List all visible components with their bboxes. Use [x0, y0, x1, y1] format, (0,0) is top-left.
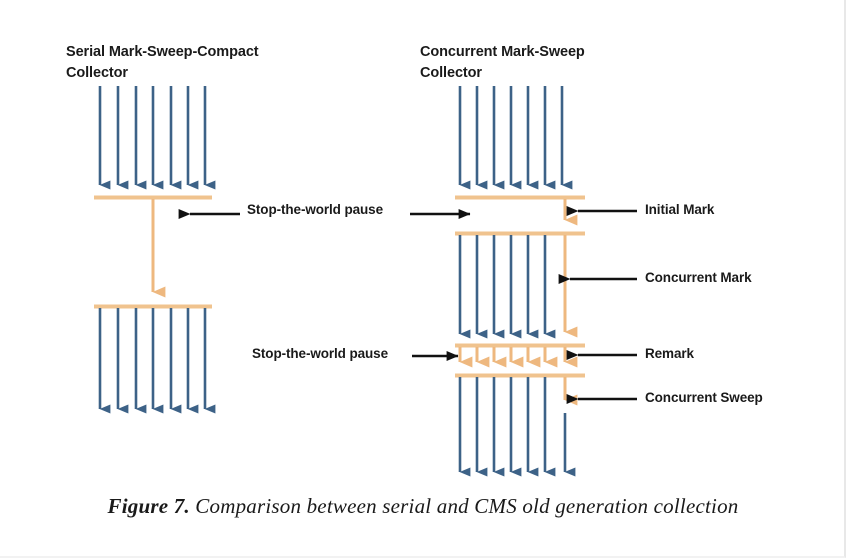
- figure-caption: Figure 7. Comparison between serial and …: [0, 494, 846, 519]
- serial-app-threads-top: [100, 86, 205, 185]
- serial-collector-diagram: [94, 86, 212, 409]
- annotation-arrows: [190, 211, 637, 399]
- cms-collector-diagram: [455, 86, 585, 472]
- figure-caption-number: Figure 7.: [108, 494, 190, 518]
- stop-the-world-pause-label-remark: Stop-the-world pause: [252, 346, 388, 361]
- serial-collector-title: Serial Mark-Sweep-Compact Collector: [66, 42, 326, 84]
- serial-app-threads-bottom: [100, 308, 205, 409]
- stop-the-world-pause-label-top: Stop-the-world pause: [247, 202, 383, 217]
- initial-mark-label: Initial Mark: [645, 202, 714, 217]
- cms-remark-threads: [460, 347, 565, 362]
- cms-app-threads-concurrent-mark: [460, 235, 545, 334]
- remark-label: Remark: [645, 346, 694, 361]
- cms-app-threads-bottom: [460, 377, 565, 472]
- figure-container: Serial Mark-Sweep-Compact Collector Conc…: [0, 0, 846, 558]
- concurrent-mark-label: Concurrent Mark: [645, 270, 752, 285]
- concurrent-sweep-label: Concurrent Sweep: [645, 390, 763, 405]
- cms-app-threads-top: [460, 86, 562, 185]
- cms-collector-title: Concurrent Mark-Sweep Collector: [420, 42, 670, 84]
- figure-caption-text: Comparison between serial and CMS old ge…: [190, 494, 739, 518]
